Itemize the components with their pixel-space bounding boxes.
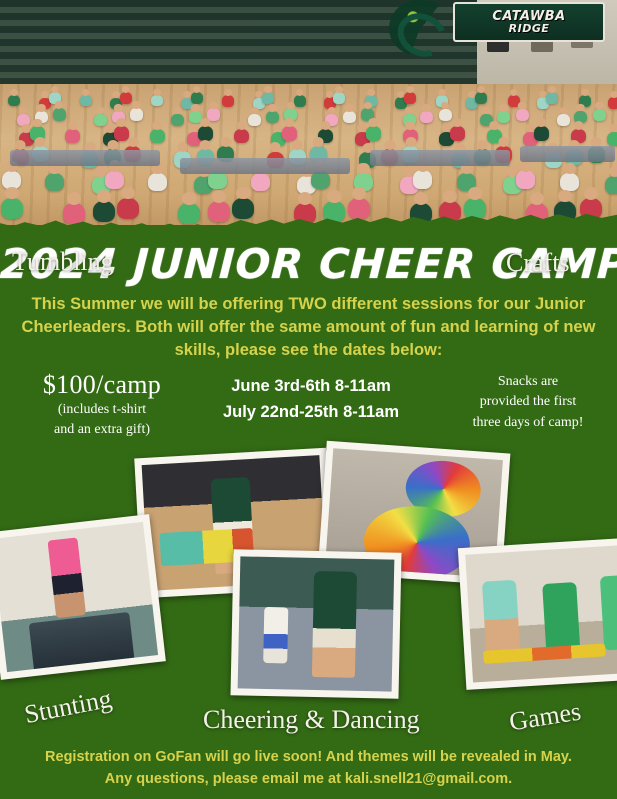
caption-tumbling: Tumbling	[12, 247, 114, 277]
snacks-line-3: three days of camp!	[443, 413, 613, 433]
session-dates: June 3rd-6th 8-11am July 22nd-25th 8-11a…	[196, 374, 426, 425]
info-row: $100/camp (includes t-shirt and an extra…	[0, 370, 617, 450]
photo-stunting-image	[0, 522, 158, 672]
footer-line-1: Registration on GoFan will go live soon!…	[6, 746, 611, 768]
price-amount: $100/camp	[4, 370, 200, 400]
price-note-line-1: (includes t-shirt	[4, 400, 200, 420]
cheer-camp-flyer: CATAWBA RIDGE 2024 JUNIOR CHEER CAMPS Th…	[0, 0, 617, 799]
price-block: $100/camp (includes t-shirt and an extra…	[4, 370, 200, 440]
snacks-line-1: Snacks are	[443, 372, 613, 392]
photo-games-image	[465, 545, 617, 682]
photo-games	[458, 538, 617, 690]
snacks-line-2: provided the first	[443, 392, 613, 412]
photo-stunting	[0, 514, 166, 680]
photo-cheering-dancing-image	[238, 556, 395, 691]
caption-crafts: Crafts	[506, 248, 570, 278]
session-1-date: June 3rd-6th 8-11am	[196, 374, 426, 400]
camper-crowd	[0, 0, 617, 240]
footer-note: Registration on GoFan will go live soon!…	[6, 746, 611, 791]
activity-photo-collage	[0, 447, 617, 727]
intro-paragraph: This Summer we will be offering TWO diff…	[6, 293, 611, 361]
session-2-date: July 22nd-25th 8-11am	[196, 400, 426, 426]
price-note-line-2: and an extra gift)	[4, 420, 200, 440]
snacks-note: Snacks are provided the first three days…	[443, 372, 613, 433]
footer-line-2: Any questions, please email me at kali.s…	[6, 768, 611, 790]
hero-photo: CATAWBA RIDGE	[0, 0, 617, 240]
caption-cheering-dancing: Cheering & Dancing	[203, 705, 420, 735]
photo-cheering-dancing	[230, 549, 401, 698]
